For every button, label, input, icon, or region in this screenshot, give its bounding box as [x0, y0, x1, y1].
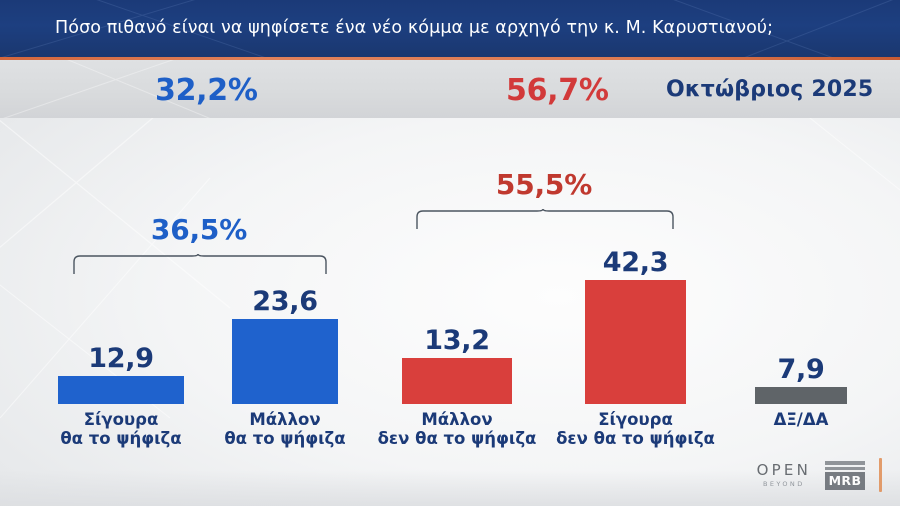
summary-positive-total: 32,2%	[155, 73, 258, 108]
bar-label-5: ΔΞ/ΔΑ	[774, 410, 829, 429]
header-band: Πόσο πιθανό είναι να ψηφίσετε ένα νέο κό…	[0, 0, 900, 57]
bar-label-3: Μάλλον δεν θα το ψήφιζα	[378, 410, 537, 449]
bar-column-4[interactable]: 42,3 Σίγουρα δεν θα το ψήφιζα	[585, 280, 686, 404]
mrb-bar-middle	[825, 467, 865, 470]
bar-rect-5	[755, 387, 847, 404]
bar-label-1-line1: Σίγουρα	[84, 410, 159, 429]
bar-label-3-line2: δεν θα το ψήφιζα	[378, 429, 537, 448]
bar-label-1: Σίγουρα θα το ψήφιζα	[60, 410, 181, 449]
bar-label-5-line1: ΔΞ/ΔΑ	[774, 410, 829, 429]
chart-plot-area: 36,5% 55,5% 12,9 Σίγουρα θα το ψήφιζα 23…	[0, 118, 900, 506]
mrb-logo: MRB	[825, 461, 865, 490]
bar-column-3[interactable]: 13,2 Μάλλον δεν θα το ψήφιζα	[402, 358, 512, 404]
bar-column-5[interactable]: 7,9 ΔΞ/ΔΑ	[755, 387, 847, 404]
bracket-negative	[415, 209, 675, 231]
bar-value-4: 42,3	[603, 247, 668, 278]
beyond-logo-text: BEYOND	[763, 481, 805, 488]
bar-label-4-line2: δεν θα το ψήφιζα	[556, 429, 715, 448]
open-logo-text: OPEN	[757, 463, 811, 478]
open-beyond-logo: OPEN BEYOND	[757, 463, 811, 488]
bracket-positive	[72, 254, 328, 276]
bar-value-5: 7,9	[778, 354, 825, 385]
footer-logos: OPEN BEYOND MRB	[757, 458, 882, 492]
bar-rect-1	[58, 376, 184, 404]
bar-label-4: Σίγουρα δεν θα το ψήφιζα	[556, 410, 715, 449]
bracket-total-negative: 55,5%	[415, 168, 673, 201]
bar-column-1[interactable]: 12,9 Σίγουρα θα το ψήφιζα	[58, 376, 184, 404]
bar-column-2[interactable]: 23,6 Μάλλον θα το ψήφιζα	[232, 319, 338, 404]
bar-label-3-line1: Μάλλον	[421, 410, 492, 429]
orange-tick-icon	[879, 458, 882, 492]
poll-chart-screen: Πόσο πιθανό είναι να ψηφίσετε ένα νέο κό…	[0, 0, 900, 506]
bar-label-2: Μάλλον θα το ψήφιζα	[224, 410, 345, 449]
bar-value-3: 13,2	[424, 325, 489, 356]
bar-rect-4	[585, 280, 686, 404]
summary-period: Οκτώβριος 2025	[666, 77, 873, 102]
bar-value-1: 12,9	[88, 343, 153, 374]
summary-strip: 32,2% 56,7% Οκτώβριος 2025	[0, 60, 900, 118]
bar-label-4-line1: Σίγουρα	[598, 410, 673, 429]
mrb-bar-top	[825, 461, 865, 465]
page-title: Πόσο πιθανό είναι να ψηφίσετε ένα νέο κό…	[55, 0, 773, 57]
bar-label-2-line2: θα το ψήφιζα	[224, 429, 345, 448]
bar-rect-3	[402, 358, 512, 404]
bar-label-1-line2: θα το ψήφιζα	[60, 429, 181, 448]
summary-negative-total: 56,7%	[506, 73, 609, 108]
mrb-logo-text: MRB	[825, 472, 865, 490]
bracket-total-positive: 36,5%	[72, 213, 326, 246]
bar-rect-2	[232, 319, 338, 404]
bar-label-2-line1: Μάλλον	[249, 410, 320, 429]
bar-value-2: 23,6	[252, 286, 317, 317]
